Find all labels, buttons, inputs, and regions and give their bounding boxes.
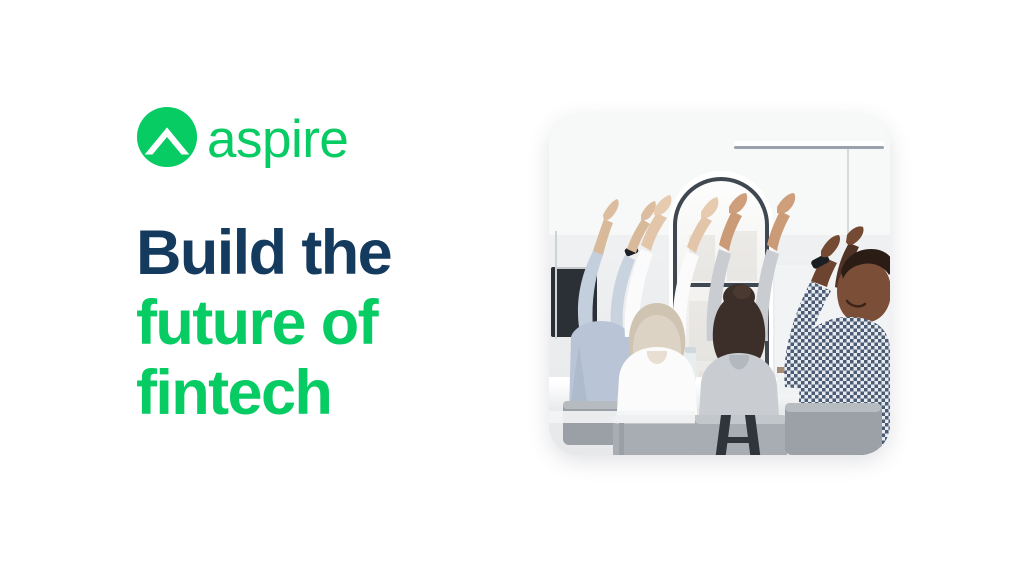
headline-line-1: Build the	[136, 218, 496, 288]
left-content-column: aspire Build the future of fintech	[136, 104, 496, 428]
brand-name: aspire	[207, 113, 348, 166]
headline-line-2: future of	[136, 288, 496, 358]
slide-canvas: aspire Build the future of fintech	[0, 0, 1024, 576]
photo-illustration	[549, 115, 890, 455]
brand-lockup: aspire	[136, 104, 496, 170]
aspire-logo-icon	[136, 106, 198, 168]
page-title: Build the future of fintech	[136, 218, 496, 428]
team-celebration-photo	[549, 115, 890, 455]
headline-line-3: fintech	[136, 358, 496, 428]
